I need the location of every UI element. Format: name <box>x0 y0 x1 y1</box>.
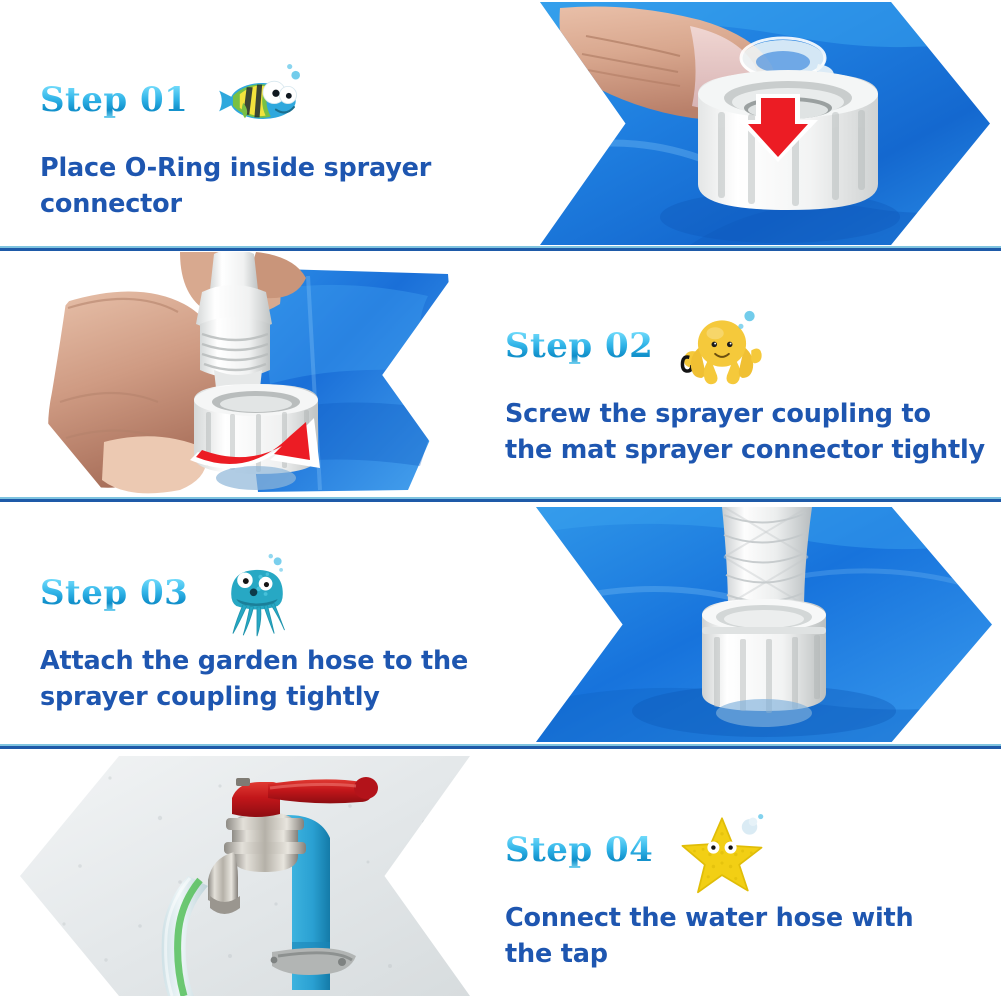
instruction-infographic: Step 01 <box>0 0 1001 1001</box>
step-row-03: Step 03 <box>0 503 1001 744</box>
step-01-photo-block <box>500 0 1001 247</box>
step-03-label: Step 03 <box>40 576 188 612</box>
row-divider-1 <box>0 246 1001 251</box>
step-02-text-block: Step 02 <box>505 252 995 498</box>
step-04-photo <box>20 756 470 996</box>
step-03-text-block: Step 03 <box>40 503 490 744</box>
step-03-heading: Step 03 <box>40 551 490 637</box>
row-divider-2 <box>0 497 1001 502</box>
step-04-text-block: Step 04 <box>505 750 975 1001</box>
step-04-label: Step 04 <box>505 833 653 869</box>
step-row-02: Step 02 <box>0 252 1001 498</box>
step-03-photo-block <box>500 503 1001 744</box>
step-04-photo-block <box>0 750 480 1001</box>
row-divider-3 <box>0 744 1001 749</box>
step-01-description: Place O-Ring inside sprayer connector <box>40 150 470 222</box>
step-02-photo <box>8 252 470 498</box>
step-03-photo <box>536 507 992 742</box>
step-04-description: Connect the water hose with the tap <box>505 900 975 972</box>
step-03-description: Attach the garden hose to the sprayer co… <box>40 643 490 715</box>
step-04-photo-art <box>20 756 470 996</box>
starfish-icon <box>679 808 765 894</box>
step-01-photo <box>540 2 990 245</box>
step-01-photo-art <box>540 2 990 245</box>
step-02-photo-art <box>8 252 470 498</box>
step-01-label: Step 01 <box>40 83 188 119</box>
step-02-label: Step 02 <box>505 329 653 365</box>
step-02-description: Screw the sprayer coupling to the mat sp… <box>505 396 995 468</box>
jellyfish-icon <box>214 551 300 637</box>
step-01-text-block: Step 01 <box>40 0 470 247</box>
step-01-heading: Step 01 <box>40 58 470 144</box>
step-04-heading: Step 04 <box>505 808 975 894</box>
step-02-heading: Step 02 <box>505 304 995 390</box>
step-row-04: Step 04 <box>0 750 1001 1001</box>
step-03-photo-art <box>536 507 992 742</box>
fish-icon <box>214 58 300 144</box>
octopus-icon <box>679 304 765 390</box>
step-02-photo-block <box>0 252 480 498</box>
step-row-01: Step 01 <box>0 0 1001 247</box>
